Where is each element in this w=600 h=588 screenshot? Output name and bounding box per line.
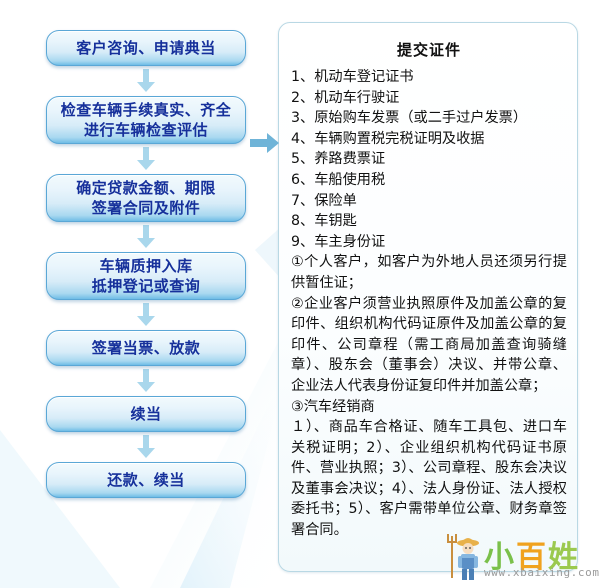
submitted-documents-panel: 提交证件 1、机动车登记证书 2、机动车行驶证 3、原始购车发票（或二手过户发票…	[278, 22, 578, 572]
flowchart-column: 客户咨询、申请典当 检查车辆手续真实、齐全 进行车辆检查评估 确定贷款金额、期限…	[46, 30, 246, 498]
flow-node-label: 确定贷款金额、期限 签署合同及附件	[70, 178, 222, 218]
flow-node-step-1[interactable]: 客户咨询、申请典当	[46, 30, 246, 66]
list-item: 2、机动车行驶证	[291, 88, 567, 109]
note-paragraph: ②企业客户须营业执照原件及加盖公章的复印件、组织机构代码证原件及加盖公章的复印件…	[291, 294, 567, 397]
flow-node-step-5[interactable]: 签署当票、放款	[46, 330, 246, 366]
flow-node-label: 还款、续当	[101, 470, 191, 490]
list-item: 5、养路费票证	[291, 149, 567, 170]
arrow-down-icon-1	[46, 66, 246, 96]
flow-node-label: 客户咨询、申请典当	[70, 38, 222, 58]
list-item: 3、原始购车发票（或二手过户发票）	[291, 108, 567, 129]
flow-node-step-2[interactable]: 检查车辆手续真实、齐全 进行车辆检查评估	[46, 96, 246, 144]
note-paragraph: ①个人客户，如客户为外地人员还须另行提供暂住证；	[291, 252, 567, 293]
list-item: 9、车主身份证	[291, 232, 567, 253]
list-item: 4、车辆购置税完税证明及收据	[291, 129, 567, 150]
list-item: 1、机动车登记证书	[291, 67, 567, 88]
flow-node-step-3[interactable]: 确定贷款金额、期限 签署合同及附件	[46, 174, 246, 222]
arrow-down-icon-5	[46, 366, 246, 396]
arrow-down-icon-2	[46, 144, 246, 174]
list-item: 8、车钥匙	[291, 211, 567, 232]
flow-node-label: 车辆质押入库 抵押登记或查询	[86, 256, 207, 296]
note-paragraph: １）、商品车合格证、随车工具包、进口车关税证明；2）、企业组织机构代码证书原件、…	[291, 417, 567, 541]
flow-node-label: 检查车辆手续真实、齐全 进行车辆检查评估	[55, 100, 238, 140]
arrow-down-icon-4	[46, 300, 246, 330]
flow-node-step-4[interactable]: 车辆质押入库 抵押登记或查询	[46, 252, 246, 300]
flow-node-step-6[interactable]: 续当	[46, 396, 246, 432]
note-paragraph: ③汽车经销商	[291, 397, 567, 418]
arrow-right-icon	[250, 132, 280, 154]
flow-node-label: 签署当票、放款	[86, 338, 207, 358]
arrow-down-icon-3	[46, 222, 246, 252]
flow-node-step-7[interactable]: 还款、续当	[46, 462, 246, 498]
panel-title: 提交证件	[291, 39, 567, 60]
flow-node-label: 续当	[124, 404, 167, 424]
arrow-down-icon-6	[46, 432, 246, 462]
list-item: 7、保险单	[291, 191, 567, 212]
list-item: 6、车船使用税	[291, 170, 567, 191]
